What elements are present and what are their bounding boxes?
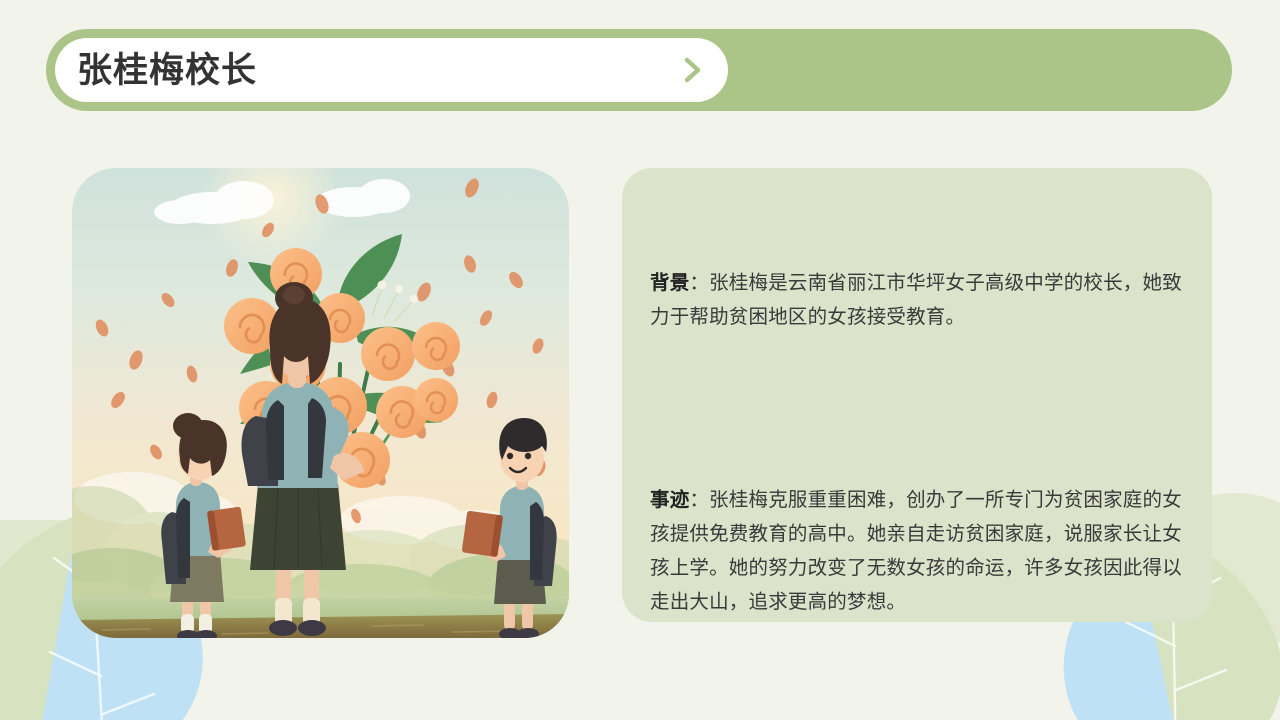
illustration-artwork — [72, 168, 569, 638]
paragraph-background-separator: ： — [689, 272, 709, 294]
illustration-teacher-with-flowers — [72, 168, 569, 638]
page-title: 张桂梅校长 — [77, 53, 257, 88]
paragraph-deeds-separator: ： — [689, 489, 709, 511]
slide-canvas: 张桂梅校长 — [0, 0, 1280, 720]
paragraph-deeds: 事迹：张桂梅克服重重困难，创办了一所专门为贫困家庭的女孩提供免费教育的高中。她亲… — [650, 483, 1184, 619]
header-title-pill[interactable]: 张桂梅校长 — [55, 38, 728, 102]
paragraph-background-label: 背景 — [650, 272, 689, 294]
paragraph-background: 背景：张桂梅是云南省丽江市华坪女子高级中学的校长，她致力于帮助贫困地区的女孩接受… — [650, 266, 1184, 334]
paragraph-deeds-label: 事迹 — [650, 489, 689, 511]
paragraph-deeds-body: 张桂梅克服重重困难，创办了一所专门为贫困家庭的女孩提供免费教育的高中。她亲自走访… — [650, 489, 1182, 613]
paragraph-background-body: 张桂梅是云南省丽江市华坪女子高级中学的校长，她致力于帮助贫困地区的女孩接受教育。 — [650, 272, 1182, 328]
description-panel: 背景：张桂梅是云南省丽江市华坪女子高级中学的校长，她致力于帮助贫困地区的女孩接受… — [622, 168, 1212, 622]
chevron-right-icon[interactable] — [682, 56, 702, 84]
paragraph-spacer — [650, 353, 1184, 463]
